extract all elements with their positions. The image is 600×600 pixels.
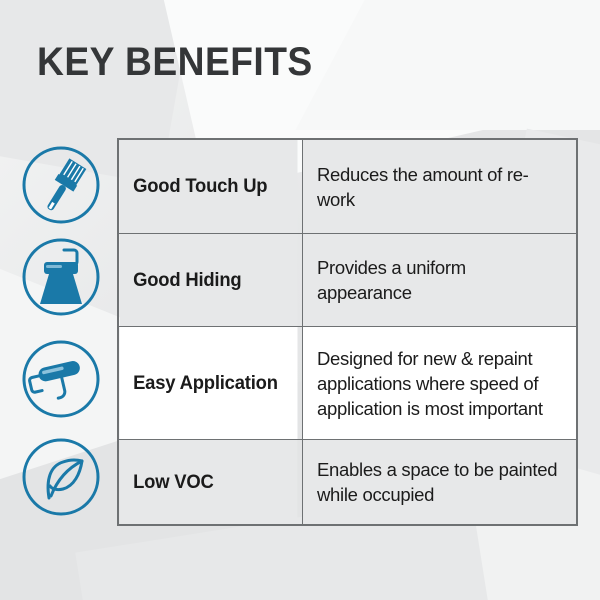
icon-rail bbox=[17, 138, 105, 522]
benefits-table: Good Touch Up Reduces the amount of re-w… bbox=[117, 138, 578, 526]
paint-roller-pour-icon bbox=[20, 236, 102, 318]
benefit-description: Reduces the amount of re-work bbox=[303, 140, 577, 234]
background-facet bbox=[295, 0, 600, 130]
leaf-icon bbox=[20, 436, 102, 518]
benefit-icon-good-touch-up bbox=[17, 138, 105, 231]
paint-roller-icon bbox=[20, 338, 102, 420]
benefit-icon-low-voc bbox=[17, 435, 105, 519]
benefit-description: Designed for new & repaint applications … bbox=[303, 327, 577, 440]
table-row: Easy Application Designed for new & repa… bbox=[119, 327, 577, 440]
benefit-name: Good Hiding bbox=[119, 234, 297, 327]
benefit-name: Good Touch Up bbox=[119, 140, 297, 234]
table-row: Low VOC Enables a space to be painted wh… bbox=[119, 440, 577, 525]
benefit-name: Low VOC bbox=[119, 440, 297, 525]
table-row: Good Touch Up Reduces the amount of re-w… bbox=[119, 140, 577, 234]
benefit-icon-good-hiding bbox=[17, 231, 105, 323]
paint-brush-icon bbox=[20, 144, 102, 226]
benefit-icon-easy-application bbox=[17, 323, 105, 435]
infographic-canvas: KEY BENEFITS bbox=[0, 0, 600, 600]
page-title: KEY BENEFITS bbox=[37, 40, 313, 84]
table-row: Good Hiding Provides a uniform appearanc… bbox=[119, 234, 577, 327]
benefit-description: Enables a space to be painted while occu… bbox=[303, 440, 577, 525]
benefit-name: Easy Application bbox=[119, 327, 297, 440]
benefit-description: Provides a uniform appearance bbox=[303, 234, 577, 327]
